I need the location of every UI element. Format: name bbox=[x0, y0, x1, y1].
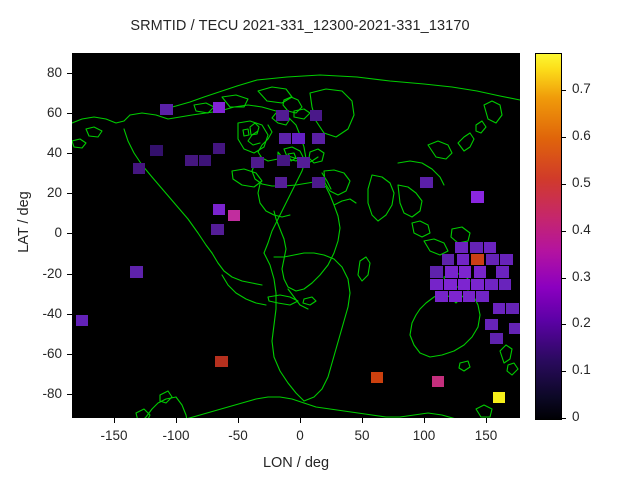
y-ticklabel-minus60: -60 bbox=[18, 346, 62, 361]
y-ticklabel-minus40: -40 bbox=[18, 306, 62, 321]
heatmap-cell bbox=[484, 242, 496, 253]
heatmap-cell bbox=[130, 266, 142, 277]
heatmap-cell bbox=[449, 291, 461, 302]
x-tick-minus150 bbox=[114, 418, 115, 423]
x-tick-100 bbox=[424, 418, 425, 423]
heatmap-cell bbox=[442, 254, 454, 265]
colorbar-ticklabel: 0.4 bbox=[572, 222, 591, 237]
heatmap-cell bbox=[471, 279, 483, 290]
heatmap-cell bbox=[371, 372, 383, 383]
heatmap-cell bbox=[211, 224, 223, 235]
heatmap-cell bbox=[500, 254, 512, 265]
heatmap-cell bbox=[277, 155, 289, 166]
heatmap-cell bbox=[463, 291, 475, 302]
heatmap-cell bbox=[455, 242, 467, 253]
heatmap-cell bbox=[459, 266, 471, 277]
heatmap-cell bbox=[420, 177, 432, 188]
heatmap-cell bbox=[496, 266, 508, 277]
x-tick-150 bbox=[486, 418, 487, 423]
heatmap-cell bbox=[312, 133, 324, 144]
heatmap-cell bbox=[251, 157, 263, 168]
heatmap-cell bbox=[228, 210, 240, 221]
y-tick-60 bbox=[67, 113, 72, 114]
heatmap-cell bbox=[435, 291, 447, 302]
heatmap-cell bbox=[150, 145, 162, 156]
y-tick-minus40 bbox=[67, 314, 72, 315]
y-tick-80 bbox=[67, 73, 72, 74]
heatmap-cell bbox=[445, 266, 457, 277]
heatmap-cell bbox=[185, 155, 197, 166]
heatmap-cell bbox=[160, 104, 172, 115]
heatmap-cell bbox=[213, 204, 225, 215]
colorbar-tick bbox=[561, 324, 566, 325]
heatmap-cell bbox=[470, 242, 482, 253]
heatmap-cell bbox=[133, 163, 145, 174]
heatmap-cell bbox=[485, 319, 497, 330]
heatmap-cell bbox=[499, 279, 511, 290]
y-tick-minus80 bbox=[67, 394, 72, 395]
heatmap-cell bbox=[199, 155, 211, 166]
heatmap-cell bbox=[490, 333, 502, 344]
y-tick-minus20 bbox=[67, 274, 72, 275]
y-ticklabel-minus80: -80 bbox=[18, 386, 62, 401]
heatmap-cell bbox=[509, 323, 520, 334]
colorbar-tick bbox=[561, 90, 566, 91]
x-ticklabel-minus100: -100 bbox=[146, 428, 206, 443]
figure-canvas: SRMTID / TECU 2021-331_12300-2021-331_13… bbox=[0, 0, 640, 480]
colorbar-ticklabel: 0.2 bbox=[572, 315, 591, 330]
colorbar-ticklabel: 0.6 bbox=[572, 128, 591, 143]
y-tick-40 bbox=[67, 153, 72, 154]
colorbar-tick bbox=[561, 231, 566, 232]
x-tick-minus100 bbox=[176, 418, 177, 423]
colorbar-tick bbox=[561, 137, 566, 138]
y-axis-label: LAT / deg bbox=[16, 152, 32, 292]
colorbar-ticklabel: 0.7 bbox=[572, 81, 591, 96]
colorbar-tick bbox=[561, 184, 566, 185]
heatmap-cell bbox=[493, 303, 505, 314]
heatmap-cell bbox=[310, 110, 322, 121]
heatmap-cell bbox=[457, 254, 469, 265]
y-ticklabel-60: 60 bbox=[18, 105, 62, 120]
y-ticklabel-80: 80 bbox=[18, 65, 62, 80]
x-ticklabel-0: 0 bbox=[270, 428, 330, 443]
heatmap-cell bbox=[493, 392, 505, 403]
heatmap-cell bbox=[486, 254, 498, 265]
x-ticklabel-minus50: -50 bbox=[208, 428, 268, 443]
x-ticklabel-minus150: -150 bbox=[84, 428, 144, 443]
y-tick-20 bbox=[67, 193, 72, 194]
heatmap-cell bbox=[485, 279, 497, 290]
heatmap-cell bbox=[275, 177, 287, 188]
x-tick-50 bbox=[362, 418, 363, 423]
heatmap-cell bbox=[474, 266, 486, 277]
heatmap-cell bbox=[76, 315, 88, 326]
heatmap-cell bbox=[312, 177, 324, 188]
x-axis-label: LON / deg bbox=[72, 455, 520, 471]
y-tick-minus60 bbox=[67, 354, 72, 355]
heatmap-cell bbox=[276, 110, 288, 121]
heatmap-cell bbox=[297, 157, 309, 168]
map-plot-area[interactable] bbox=[72, 53, 520, 418]
heatmap-cell bbox=[471, 254, 483, 265]
heatmap-cell bbox=[213, 143, 225, 154]
x-tick-0 bbox=[300, 418, 301, 423]
colorbar-tick bbox=[561, 278, 566, 279]
x-ticklabel-50: 50 bbox=[332, 428, 392, 443]
heatmap-cell bbox=[292, 133, 304, 144]
page-title: SRMTID / TECU 2021-331_12300-2021-331_13… bbox=[0, 18, 600, 34]
heatmap-cell bbox=[432, 376, 444, 387]
heatmap-cell bbox=[471, 191, 483, 202]
heatmap-cell bbox=[444, 279, 456, 290]
heatmap-cell bbox=[215, 356, 227, 367]
x-ticklabel-100: 100 bbox=[394, 428, 454, 443]
heatmap-cell bbox=[458, 279, 470, 290]
colorbar-ticklabel: 0.5 bbox=[572, 175, 591, 190]
heatmap-cell bbox=[476, 291, 488, 302]
colorbar-ticklabel: 0.1 bbox=[572, 362, 591, 377]
colorbar[interactable] bbox=[535, 53, 562, 420]
colorbar-tick bbox=[561, 371, 566, 372]
y-tick-0 bbox=[67, 233, 72, 234]
x-tick-minus50 bbox=[238, 418, 239, 423]
x-ticklabel-150: 150 bbox=[456, 428, 516, 443]
heatmap-cell bbox=[430, 279, 442, 290]
heatmap-cell bbox=[213, 102, 225, 113]
heatmap-cell bbox=[279, 133, 291, 144]
colorbar-tick bbox=[561, 418, 566, 419]
colorbar-ticklabel: 0 bbox=[572, 409, 580, 424]
colorbar-ticklabel: 0.3 bbox=[572, 269, 591, 284]
heatmap-cell bbox=[506, 303, 518, 314]
data-cell-layer bbox=[72, 53, 520, 418]
heatmap-cell bbox=[430, 266, 442, 277]
